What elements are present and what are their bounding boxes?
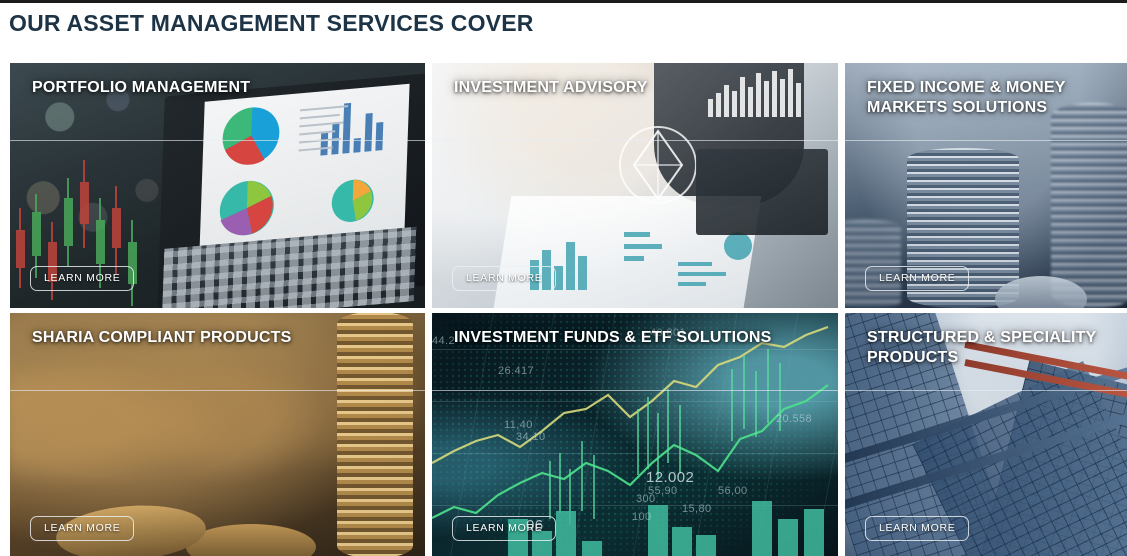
learn-more-button[interactable]: LEARN MORE bbox=[30, 266, 134, 291]
ticker-number: 12.002 bbox=[646, 469, 694, 486]
top-edge-strip bbox=[0, 0, 1127, 3]
coin-stack-art bbox=[337, 313, 413, 556]
ticker-number: 26.417 bbox=[498, 365, 534, 377]
service-card-portfolio-management[interactable]: PORTFOLIO MANAGEMENT LEARN MORE bbox=[10, 63, 425, 308]
page-title: OUR ASSET MANAGEMENT SERVICES COVER bbox=[9, 10, 534, 37]
overlay-scan-line bbox=[10, 390, 425, 391]
learn-more-button[interactable]: LEARN MORE bbox=[452, 516, 556, 541]
ticker-number: 44.2 bbox=[432, 335, 455, 347]
overlay-scan-line bbox=[432, 140, 838, 141]
service-card-structured-speciality[interactable]: STRUCTURED & SPECIALITY PRODUCTS LEARN M… bbox=[845, 313, 1127, 556]
service-card-sharia-compliant[interactable]: SHARIA COMPLIANT PRODUCTS LEARN MORE bbox=[10, 313, 425, 556]
laptop-screen-art bbox=[199, 84, 409, 255]
learn-more-button[interactable]: LEARN MORE bbox=[865, 266, 969, 291]
services-section: OUR ASSET MANAGEMENT SERVICES COVER bbox=[0, 0, 1127, 556]
ticker-number: 15,80 bbox=[682, 503, 712, 515]
coin-stack-art bbox=[845, 220, 901, 308]
learn-more-button[interactable]: LEARN MORE bbox=[30, 516, 134, 541]
coin-stack-art bbox=[1051, 103, 1127, 308]
learn-more-button[interactable]: LEARN MORE bbox=[452, 266, 556, 291]
overlay-scan-line bbox=[432, 390, 838, 391]
ticker-number: 20.558 bbox=[776, 413, 812, 425]
card-title: STRUCTURED & SPECIALITY PRODUCTS bbox=[867, 328, 1127, 369]
ticker-number: 34,10 bbox=[516, 431, 546, 443]
card-title: SHARIA COMPLIANT PRODUCTS bbox=[32, 328, 409, 348]
ticker-number: 56,00 bbox=[718, 485, 748, 497]
ticker-number: 300 bbox=[636, 493, 656, 505]
desktop-monitor-art bbox=[696, 149, 828, 235]
overlay-scan-line bbox=[10, 140, 425, 141]
overlay-scan-line bbox=[845, 140, 1127, 141]
card-title: FIXED INCOME & MONEY MARKETS SOLUTIONS bbox=[867, 78, 1127, 119]
card-title: PORTFOLIO MANAGEMENT bbox=[32, 78, 409, 98]
ticker-number: 100 bbox=[632, 511, 652, 523]
overlay-scan-line bbox=[845, 390, 1127, 391]
services-card-grid: PORTFOLIO MANAGEMENT LEARN MORE bbox=[10, 63, 1127, 556]
learn-more-button[interactable]: LEARN MORE bbox=[865, 516, 969, 541]
card-title: INVESTMENT FUNDS & ETF SOLUTIONS bbox=[454, 328, 822, 348]
service-card-investment-funds-etf[interactable]: 26.417 20.558 12.002 06 44.2 40.801 55,9… bbox=[432, 313, 838, 556]
card-title: INVESTMENT ADVISORY bbox=[454, 78, 822, 98]
service-card-investment-advisory[interactable]: INVESTMENT ADVISORY LEARN MORE bbox=[432, 63, 838, 308]
service-card-fixed-income[interactable]: FIXED INCOME & MONEY MARKETS SOLUTIONS L… bbox=[845, 63, 1127, 308]
ticker-number: 11,40 bbox=[504, 419, 533, 431]
